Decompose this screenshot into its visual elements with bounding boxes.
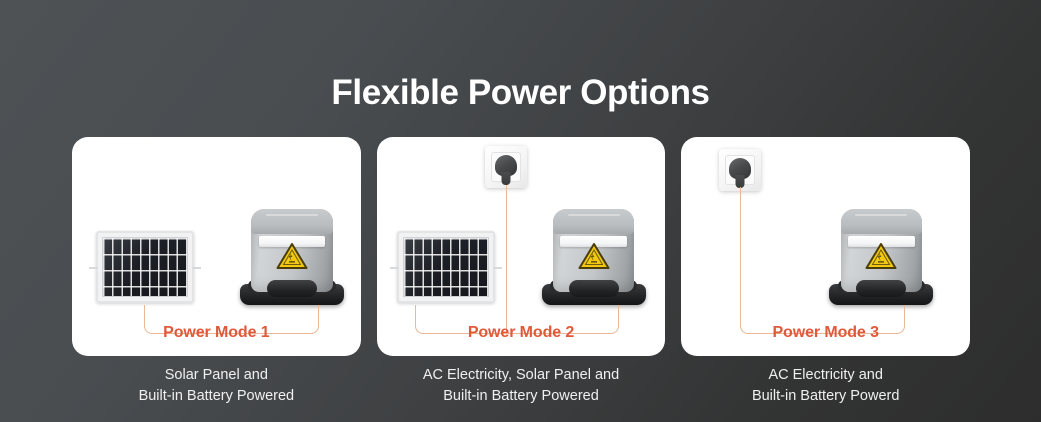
solar-panel-bracket-left bbox=[89, 267, 98, 269]
device-handle bbox=[569, 280, 619, 297]
wall-socket-icon bbox=[485, 146, 527, 188]
device-handle bbox=[856, 280, 906, 297]
caption-1-line-1: Solar Panel and bbox=[72, 365, 361, 386]
power-mode-card-2[interactable]: Power Mode 2 bbox=[377, 137, 666, 356]
power-mode-label-2: Power Mode 2 bbox=[377, 324, 666, 342]
page-title: Flexible Power Options bbox=[0, 72, 1041, 114]
caption-list: Solar Panel and Built-in Battery Powered… bbox=[72, 365, 970, 407]
power-device-icon bbox=[240, 209, 344, 305]
device-handle bbox=[267, 280, 317, 297]
device-top-cap bbox=[841, 209, 922, 234]
card-caption-3: AC Electricity and Built-in Battery Powe… bbox=[681, 365, 970, 407]
solar-panel-bracket-right bbox=[493, 267, 502, 269]
card-caption-1: Solar Panel and Built-in Battery Powered bbox=[72, 365, 361, 407]
wall-socket-icon bbox=[719, 149, 761, 191]
solar-panel-bracket-right bbox=[192, 267, 201, 269]
power-device-icon bbox=[542, 209, 646, 305]
solar-panel-bracket-left bbox=[390, 267, 399, 269]
solar-panel-icon bbox=[96, 231, 194, 303]
caption-3-line-1: AC Electricity and bbox=[681, 365, 970, 386]
card-caption-2: AC Electricity, Solar Panel and Built-in… bbox=[377, 365, 666, 407]
power-mode-card-list: Power Mode 1 bbox=[72, 137, 970, 356]
solar-panel-cells bbox=[102, 237, 188, 297]
plug-neck bbox=[501, 172, 510, 185]
caption-2-line-1: AC Electricity, Solar Panel and bbox=[377, 365, 666, 386]
device-top-cap bbox=[553, 209, 634, 234]
caption-1-line-2: Built-in Battery Powered bbox=[72, 386, 361, 407]
device-top-cap bbox=[251, 209, 332, 234]
caption-3-line-2: Built-in Battery Powerd bbox=[681, 386, 970, 407]
power-mode-card-1[interactable]: Power Mode 1 bbox=[72, 137, 361, 356]
caption-2-line-2: Built-in Battery Powered bbox=[377, 386, 666, 407]
solar-panel-icon bbox=[397, 231, 495, 303]
power-device-icon bbox=[829, 209, 933, 305]
solar-panel-cells bbox=[403, 237, 489, 297]
cable-icon-socket-drop bbox=[740, 187, 763, 334]
power-mode-label-1: Power Mode 1 bbox=[72, 324, 361, 342]
power-options-banner: Flexible Power Options bbox=[0, 0, 1041, 422]
power-mode-label-3: Power Mode 3 bbox=[681, 324, 970, 342]
power-mode-card-3[interactable]: Power Mode 3 bbox=[681, 137, 970, 356]
cable-icon-socket-drop bbox=[506, 185, 507, 333]
